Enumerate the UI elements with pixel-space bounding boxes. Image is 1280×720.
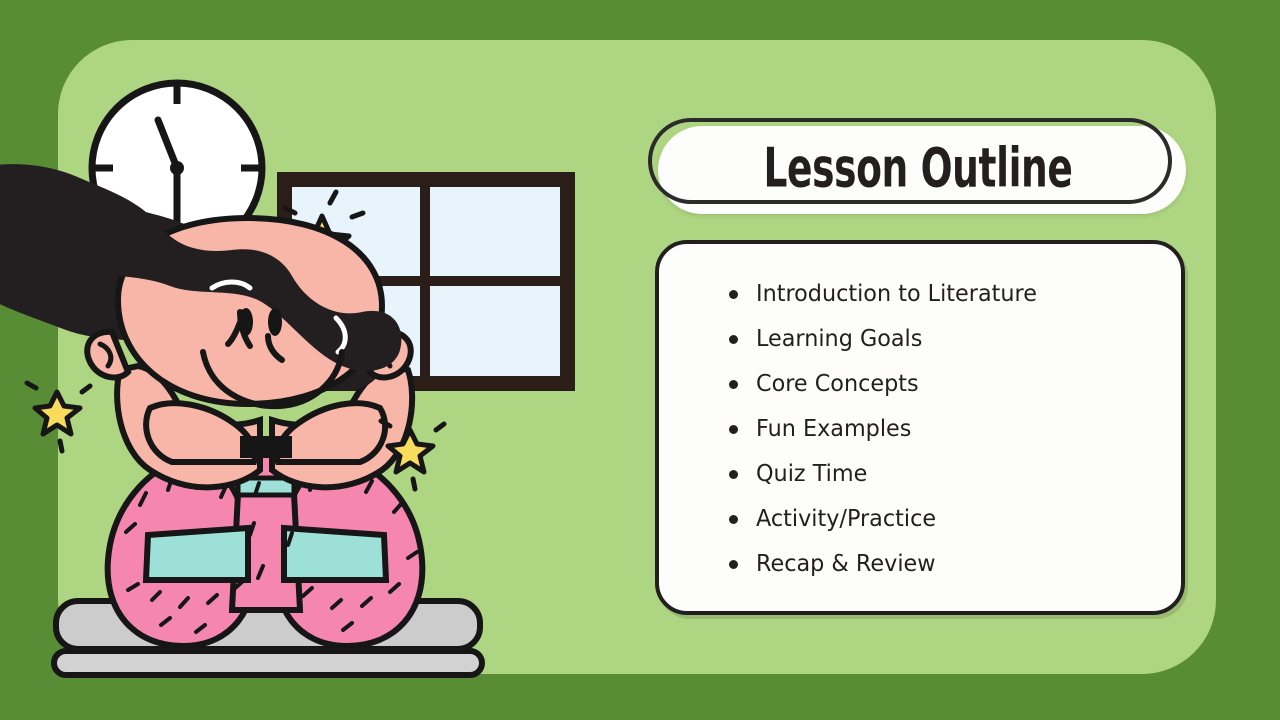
- list-item-label: Quiz Time: [756, 463, 867, 486]
- list-item[interactable]: Core Concepts: [729, 362, 1169, 407]
- star-sparkle-icon: [27, 383, 90, 451]
- bullet-dot-icon: [729, 515, 738, 524]
- list-item[interactable]: Quiz Time: [729, 452, 1169, 497]
- bullet-dot-icon: [729, 470, 738, 479]
- illustration: [0, 0, 640, 720]
- bullet-dot-icon: [729, 560, 738, 569]
- page-title: Lesson Outline: [702, 110, 1134, 226]
- slide-canvas: Lesson Outline Introduction to Literatur…: [0, 0, 1280, 720]
- character-hands: [146, 403, 385, 462]
- list-item-label: Learning Goals: [756, 328, 922, 351]
- list-item[interactable]: Fun Examples: [729, 407, 1169, 452]
- list-item-label: Introduction to Literature: [756, 283, 1037, 306]
- list-item[interactable]: Activity/Practice: [729, 497, 1169, 542]
- bullet-dot-icon: [729, 380, 738, 389]
- outline-card: Introduction to Literature Learning Goal…: [655, 240, 1185, 615]
- content-column: Lesson Outline Introduction to Literatur…: [640, 0, 1240, 720]
- list-item[interactable]: Introduction to Literature: [729, 272, 1169, 317]
- list-item[interactable]: Recap & Review: [729, 542, 1169, 587]
- bullet-dot-icon: [729, 425, 738, 434]
- bullet-dot-icon: [729, 290, 738, 299]
- outline-list: Introduction to Literature Learning Goal…: [729, 272, 1169, 587]
- list-item-label: Core Concepts: [756, 373, 919, 396]
- list-item-label: Activity/Practice: [756, 508, 936, 531]
- title-banner: Lesson Outline: [648, 118, 1188, 218]
- list-item[interactable]: Learning Goals: [729, 317, 1169, 362]
- list-item-label: Recap & Review: [756, 553, 936, 576]
- bullet-dot-icon: [729, 335, 738, 344]
- list-item-label: Fun Examples: [756, 418, 911, 441]
